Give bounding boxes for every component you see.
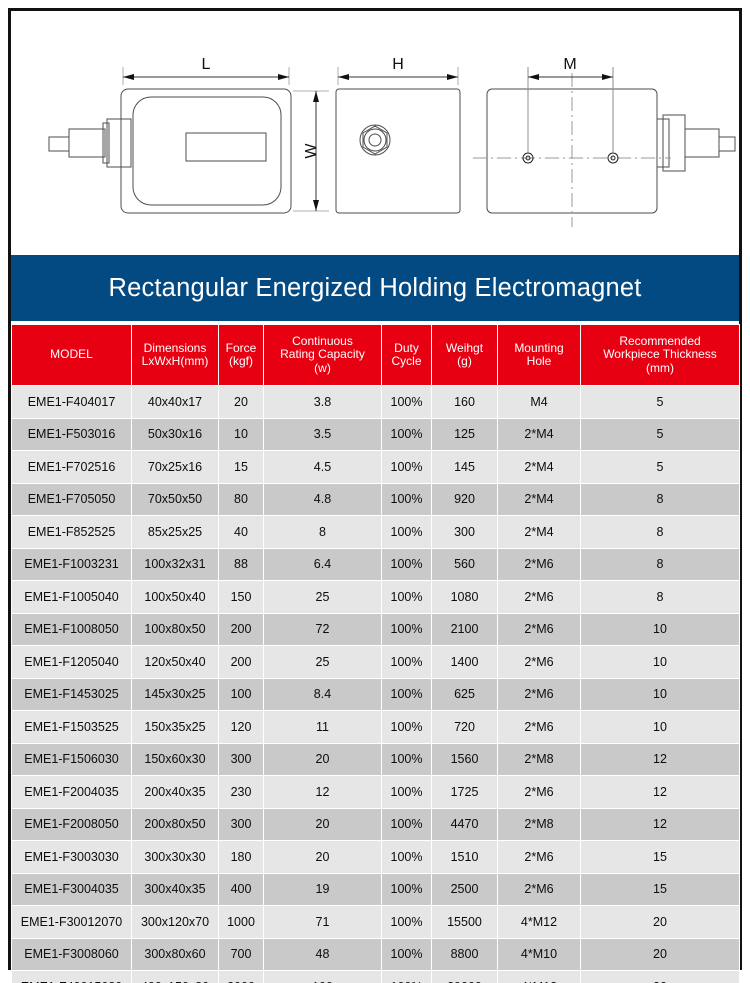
dim-arrow-M-right — [602, 74, 613, 80]
header-cell-recommended-workpiece-thickness: Recommended Workpiece Thickness (mm) — [581, 325, 740, 386]
cell-weight: 920 — [432, 483, 498, 516]
cell-duty: 100% — [382, 743, 432, 776]
cell-model: EME1-F852525 — [12, 516, 132, 549]
cell-mount: M4 — [498, 386, 581, 419]
dim-arrow-L-left — [123, 74, 134, 80]
cell-crc: 72 — [264, 613, 382, 646]
cell-dim: 300x120x70 — [132, 906, 219, 939]
front-flange — [107, 119, 131, 167]
cell-crc: 4.8 — [264, 483, 382, 516]
cell-crc: 71 — [264, 906, 382, 939]
cell-dim: 70x25x16 — [132, 451, 219, 484]
cell-thick: 10 — [581, 711, 740, 744]
header-line: Dimensions — [134, 342, 216, 355]
cell-crc: 20 — [264, 743, 382, 776]
table-row: EME1-F1005040100x50x4015025100%10802*M68 — [12, 581, 740, 614]
cell-dim: 70x50x50 — [132, 483, 219, 516]
cell-thick: 5 — [581, 386, 740, 419]
table-row: EME1-F3003030300x30x3018020100%15102*M61… — [12, 841, 740, 874]
header-line: Duty — [384, 342, 429, 355]
top-flange — [663, 115, 685, 171]
header-cell-model: MODEL — [12, 325, 132, 386]
cell-thick: 20 — [581, 906, 740, 939]
cell-duty: 100% — [382, 386, 432, 419]
top-view — [473, 67, 735, 227]
cell-thick: 8 — [581, 548, 740, 581]
header-line: Hole — [500, 355, 578, 368]
cell-dim: 120x50x40 — [132, 646, 219, 679]
header-line: Continuous — [266, 335, 379, 348]
cell-dim: 150x60x30 — [132, 743, 219, 776]
cell-thick: 8 — [581, 581, 740, 614]
cell-crc: 25 — [264, 581, 382, 614]
dimension-label-M: M — [563, 56, 576, 73]
cell-duty: 100% — [382, 483, 432, 516]
cell-model: EME1-F1503525 — [12, 711, 132, 744]
table-row: EME1-F1008050100x80x5020072100%21002*M61… — [12, 613, 740, 646]
cell-mount: 2*M6 — [498, 776, 581, 809]
cell-dim: 200x80x50 — [132, 808, 219, 841]
cell-weight: 300 — [432, 516, 498, 549]
cell-mount: 2*M6 — [498, 581, 581, 614]
header-line: MODEL — [14, 348, 129, 361]
cell-mount: 4*M10 — [498, 938, 581, 971]
header-line: Force — [221, 342, 261, 355]
header-cell-continuous-rating-capacity: Continuous Rating Capacity (w) — [264, 325, 382, 386]
cell-duty: 100% — [382, 581, 432, 614]
cell-dim: 85x25x25 — [132, 516, 219, 549]
cell-force: 80 — [219, 483, 264, 516]
side-nut-circle-mid — [364, 129, 386, 151]
cell-dim: 300x80x60 — [132, 938, 219, 971]
cell-mount: 2*M8 — [498, 808, 581, 841]
cell-mount: 4*M12 — [498, 906, 581, 939]
cell-force: 15 — [219, 451, 264, 484]
cell-dim: 400x150x80 — [132, 971, 219, 983]
cell-crc: 48 — [264, 938, 382, 971]
header-line: LxWxH(mm) — [134, 355, 216, 368]
cell-thick: 20 — [581, 938, 740, 971]
table-header: MODEL Dimensions LxWxH(mm) Force (kgf) C… — [12, 325, 740, 386]
cell-force: 230 — [219, 776, 264, 809]
cell-dim: 300x40x35 — [132, 873, 219, 906]
cell-duty: 100% — [382, 548, 432, 581]
table-row: EME1-F1003231100x32x31886.4100%5602*M68 — [12, 548, 740, 581]
cell-crc: 11 — [264, 711, 382, 744]
cell-force: 10 — [219, 418, 264, 451]
cell-mount: 2*M4 — [498, 418, 581, 451]
cell-mount: 2*M4 — [498, 451, 581, 484]
table-row: EME1-F1503525150x35x2512011100%7202*M610 — [12, 711, 740, 744]
header-line: Rating Capacity — [266, 348, 379, 361]
cell-mount: 2*M6 — [498, 613, 581, 646]
cell-force: 2000 — [219, 971, 264, 983]
cell-thick: 15 — [581, 841, 740, 874]
side-body-outline — [336, 89, 460, 213]
header-line: (w) — [266, 362, 379, 375]
cell-weight: 8800 — [432, 938, 498, 971]
table-row: EME1-F40015080400x150x802000100100%29000… — [12, 971, 740, 983]
cell-dim: 50x30x16 — [132, 418, 219, 451]
table-row: EME1-F2004035200x40x3523012100%17252*M61… — [12, 776, 740, 809]
technical-drawing: L H M W — [11, 11, 739, 241]
cell-thick: 8 — [581, 483, 740, 516]
table-row: EME1-F3008060300x80x6070048100%88004*M10… — [12, 938, 740, 971]
header-line: (mm) — [583, 362, 737, 375]
cell-weight: 160 — [432, 386, 498, 419]
header-cell-weight: Weihgt (g) — [432, 325, 498, 386]
cell-force: 400 — [219, 873, 264, 906]
cell-force: 1000 — [219, 906, 264, 939]
cell-mount: 2*M8 — [498, 743, 581, 776]
header-line: Cycle — [384, 355, 429, 368]
cell-dim: 100x32x31 — [132, 548, 219, 581]
cell-force: 300 — [219, 808, 264, 841]
cell-model: EME1-F30012070 — [12, 906, 132, 939]
cell-force: 200 — [219, 613, 264, 646]
cell-thick: 15 — [581, 873, 740, 906]
cell-weight: 145 — [432, 451, 498, 484]
cell-model: EME1-F3003030 — [12, 841, 132, 874]
cell-force: 20 — [219, 386, 264, 419]
specification-table: MODEL Dimensions LxWxH(mm) Force (kgf) C… — [11, 324, 740, 983]
dim-arrow-M-left — [528, 74, 539, 80]
cell-model: EME1-F2004035 — [12, 776, 132, 809]
cell-duty: 100% — [382, 516, 432, 549]
cell-crc: 20 — [264, 808, 382, 841]
cell-weight: 1725 — [432, 776, 498, 809]
cell-duty: 100% — [382, 711, 432, 744]
cell-weight: 1510 — [432, 841, 498, 874]
cell-thick: 10 — [581, 646, 740, 679]
cell-model: EME1-F503016 — [12, 418, 132, 451]
cell-duty: 100% — [382, 451, 432, 484]
cell-crc: 8.4 — [264, 678, 382, 711]
dim-arrow-L-right — [278, 74, 289, 80]
cell-crc: 12 — [264, 776, 382, 809]
cell-weight: 1400 — [432, 646, 498, 679]
cell-dim: 200x40x35 — [132, 776, 219, 809]
table-row: EME1-F3004035300x40x3540019100%25002*M61… — [12, 873, 740, 906]
cell-dim: 100x50x40 — [132, 581, 219, 614]
header-cell-mounting-hole: Mounting Hole — [498, 325, 581, 386]
cell-dim: 150x35x25 — [132, 711, 219, 744]
cell-mount: 2*M4 — [498, 483, 581, 516]
top-stud-tip — [719, 137, 735, 151]
table-row: EME1-F30012070300x120x70100071100%155004… — [12, 906, 740, 939]
table-body: EME1-F40401740x40x17203.8100%160M45EME1-… — [12, 386, 740, 983]
front-stud-cylinder — [69, 129, 105, 157]
cell-weight: 560 — [432, 548, 498, 581]
cell-dim: 40x40x17 — [132, 386, 219, 419]
cell-dim: 300x30x30 — [132, 841, 219, 874]
cell-dim: 100x80x50 — [132, 613, 219, 646]
cell-mount: 4*M12 — [498, 971, 581, 983]
header-line: (kgf) — [221, 355, 261, 368]
cell-weight: 1080 — [432, 581, 498, 614]
cell-weight: 125 — [432, 418, 498, 451]
cell-duty: 100% — [382, 841, 432, 874]
table-row: EME1-F70251670x25x16154.5100%1452*M45 — [12, 451, 740, 484]
header-line: Weihgt — [434, 342, 495, 355]
cell-weight: 625 — [432, 678, 498, 711]
cell-model: EME1-F1205040 — [12, 646, 132, 679]
header-row: MODEL Dimensions LxWxH(mm) Force (kgf) C… — [12, 325, 740, 386]
cell-crc: 25 — [264, 646, 382, 679]
cell-thick: 8 — [581, 516, 740, 549]
front-window-rect — [186, 133, 266, 161]
cell-force: 120 — [219, 711, 264, 744]
cell-duty: 100% — [382, 808, 432, 841]
cell-model: EME1-F2008050 — [12, 808, 132, 841]
product-title-banner: Rectangular Energized Holding Electromag… — [11, 255, 739, 321]
cell-weight: 15500 — [432, 906, 498, 939]
header-line: Workpiece Thickness — [583, 348, 737, 361]
header-cell-duty-cycle: Duty Cycle — [382, 325, 432, 386]
cell-force: 100 — [219, 678, 264, 711]
cell-mount: 2*M6 — [498, 711, 581, 744]
cell-weight: 2500 — [432, 873, 498, 906]
cell-mount: 2*M6 — [498, 548, 581, 581]
header-cell-dimensions: Dimensions LxWxH(mm) — [132, 325, 219, 386]
table-row: EME1-F50301650x30x16103.5100%1252*M45 — [12, 418, 740, 451]
cell-crc: 20 — [264, 841, 382, 874]
cell-model: EME1-F1506030 — [12, 743, 132, 776]
cell-thick: 12 — [581, 743, 740, 776]
table-row: EME1-F85252585x25x25408100%3002*M48 — [12, 516, 740, 549]
dim-arrow-H-left — [338, 74, 349, 80]
front-stud-tip — [49, 137, 69, 151]
cell-model: EME1-F3004035 — [12, 873, 132, 906]
cell-mount: 2*M6 — [498, 646, 581, 679]
cell-thick: 5 — [581, 451, 740, 484]
dimension-label-L: L — [202, 56, 211, 73]
cell-duty: 100% — [382, 613, 432, 646]
cell-duty: 100% — [382, 906, 432, 939]
cell-model: EME1-F1453025 — [12, 678, 132, 711]
cell-model: EME1-F404017 — [12, 386, 132, 419]
table-row: EME1-F1453025145x30x251008.4100%6252*M61… — [12, 678, 740, 711]
cell-weight: 4470 — [432, 808, 498, 841]
table-row: EME1-F1205040120x50x4020025100%14002*M61… — [12, 646, 740, 679]
cell-force: 200 — [219, 646, 264, 679]
cell-model: EME1-F40015080 — [12, 971, 132, 983]
table-row: EME1-F40401740x40x17203.8100%160M45 — [12, 386, 740, 419]
cell-duty: 100% — [382, 873, 432, 906]
cell-model: EME1-F3008060 — [12, 938, 132, 971]
table-row: EME1-F2008050200x80x5030020100%44702*M81… — [12, 808, 740, 841]
cell-force: 180 — [219, 841, 264, 874]
cell-crc: 6.4 — [264, 548, 382, 581]
header-line: (g) — [434, 355, 495, 368]
cell-duty: 100% — [382, 971, 432, 983]
table-row: EME1-F1506030150x60x3030020100%15602*M81… — [12, 743, 740, 776]
cell-model: EME1-F1005040 — [12, 581, 132, 614]
cell-force: 700 — [219, 938, 264, 971]
dim-arrow-H-right — [447, 74, 458, 80]
cell-weight: 1560 — [432, 743, 498, 776]
page-title: Rectangular Energized Holding Electromag… — [108, 274, 641, 303]
cell-mount: 2*M6 — [498, 678, 581, 711]
cell-weight: 29000 — [432, 971, 498, 983]
cell-duty: 100% — [382, 678, 432, 711]
cell-thick: 5 — [581, 418, 740, 451]
dimension-label-H: H — [392, 56, 404, 73]
side-view — [336, 67, 460, 213]
cell-thick: 10 — [581, 613, 740, 646]
cell-crc: 3.5 — [264, 418, 382, 451]
dim-arrow-W-top — [313, 91, 319, 102]
cell-thick: 10 — [581, 678, 740, 711]
cell-duty: 100% — [382, 646, 432, 679]
top-stud-cylinder — [685, 129, 719, 157]
front-body-inner-outline — [133, 97, 281, 205]
cell-force: 40 — [219, 516, 264, 549]
cell-duty: 100% — [382, 418, 432, 451]
cell-force: 88 — [219, 548, 264, 581]
table-row: EME1-F70505070x50x50804.8100%9202*M48 — [12, 483, 740, 516]
cell-weight: 720 — [432, 711, 498, 744]
cell-weight: 2100 — [432, 613, 498, 646]
cell-crc: 3.8 — [264, 386, 382, 419]
cell-force: 150 — [219, 581, 264, 614]
cell-model: EME1-F705050 — [12, 483, 132, 516]
drawing-canvas: L H M W — [11, 11, 739, 241]
cell-thick: 12 — [581, 776, 740, 809]
cell-duty: 100% — [382, 938, 432, 971]
header-line: Recommended — [583, 335, 737, 348]
cell-crc: 4.5 — [264, 451, 382, 484]
front-view — [49, 67, 329, 213]
side-hex-nut — [363, 126, 387, 154]
cell-mount: 2*M6 — [498, 841, 581, 874]
cell-thick: 12 — [581, 808, 740, 841]
side-nut-circle-inner — [369, 134, 381, 146]
cell-crc: 19 — [264, 873, 382, 906]
cell-force: 300 — [219, 743, 264, 776]
cell-duty: 100% — [382, 776, 432, 809]
cell-thick: 20 — [581, 971, 740, 983]
cell-crc: 100 — [264, 971, 382, 983]
header-line: Mounting — [500, 342, 578, 355]
cell-model: EME1-F1003231 — [12, 548, 132, 581]
cell-model: EME1-F702516 — [12, 451, 132, 484]
cell-model: EME1-F1008050 — [12, 613, 132, 646]
dim-arrow-W-bottom — [313, 200, 319, 211]
header-cell-force: Force (kgf) — [219, 325, 264, 386]
cell-crc: 8 — [264, 516, 382, 549]
cell-mount: 2*M6 — [498, 873, 581, 906]
cell-dim: 145x30x25 — [132, 678, 219, 711]
dimension-label-W: W — [303, 143, 320, 159]
spec-sheet-page: L H M W Rectangular Energized Holding El… — [0, 0, 750, 983]
cell-mount: 2*M4 — [498, 516, 581, 549]
